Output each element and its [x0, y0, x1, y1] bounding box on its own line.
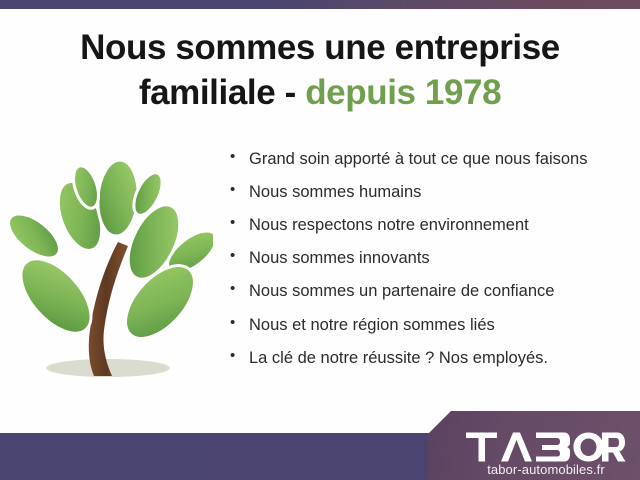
- page-title-accent: depuis 1978: [305, 73, 501, 112]
- tabor-wordmark-icon: [466, 432, 626, 462]
- list-item: Grand soin apporté à tout ce que nous fa…: [228, 148, 628, 170]
- list-item: Nous sommes humains: [228, 181, 628, 203]
- tree-leaves: [8, 159, 213, 351]
- presentation-slide: Nous sommes une entreprise familiale - d…: [0, 0, 640, 480]
- list-item: Nous et notre région sommes liés: [228, 314, 628, 336]
- page-title-line-2: familiale - depuis 1978: [0, 71, 640, 116]
- brand-logo[interactable]: tabor-automobiles.fr: [458, 432, 634, 477]
- list-item: Nous sommes un partenaire de confiance: [228, 280, 628, 302]
- list-item: Nous sommes innovants: [228, 247, 628, 269]
- top-accent-strip: [0, 0, 640, 9]
- page-title: Nous sommes une entreprise familiale - d…: [0, 26, 640, 116]
- family-tree-illustration: [8, 150, 213, 390]
- tree-trunk: [89, 242, 128, 376]
- page-title-line-2-prefix: familiale -: [139, 73, 296, 112]
- brand-website: tabor-automobiles.fr: [458, 463, 634, 477]
- list-item: Nous respectons notre environnement: [228, 214, 628, 236]
- footer-bar: tabor-automobiles.fr: [0, 433, 640, 480]
- page-title-line-1: Nous sommes une entreprise: [0, 26, 640, 71]
- list-item: La clé de notre réussite ? Nos employés.: [228, 347, 628, 369]
- company-values-list: Grand soin apporté à tout ce que nous fa…: [228, 148, 628, 380]
